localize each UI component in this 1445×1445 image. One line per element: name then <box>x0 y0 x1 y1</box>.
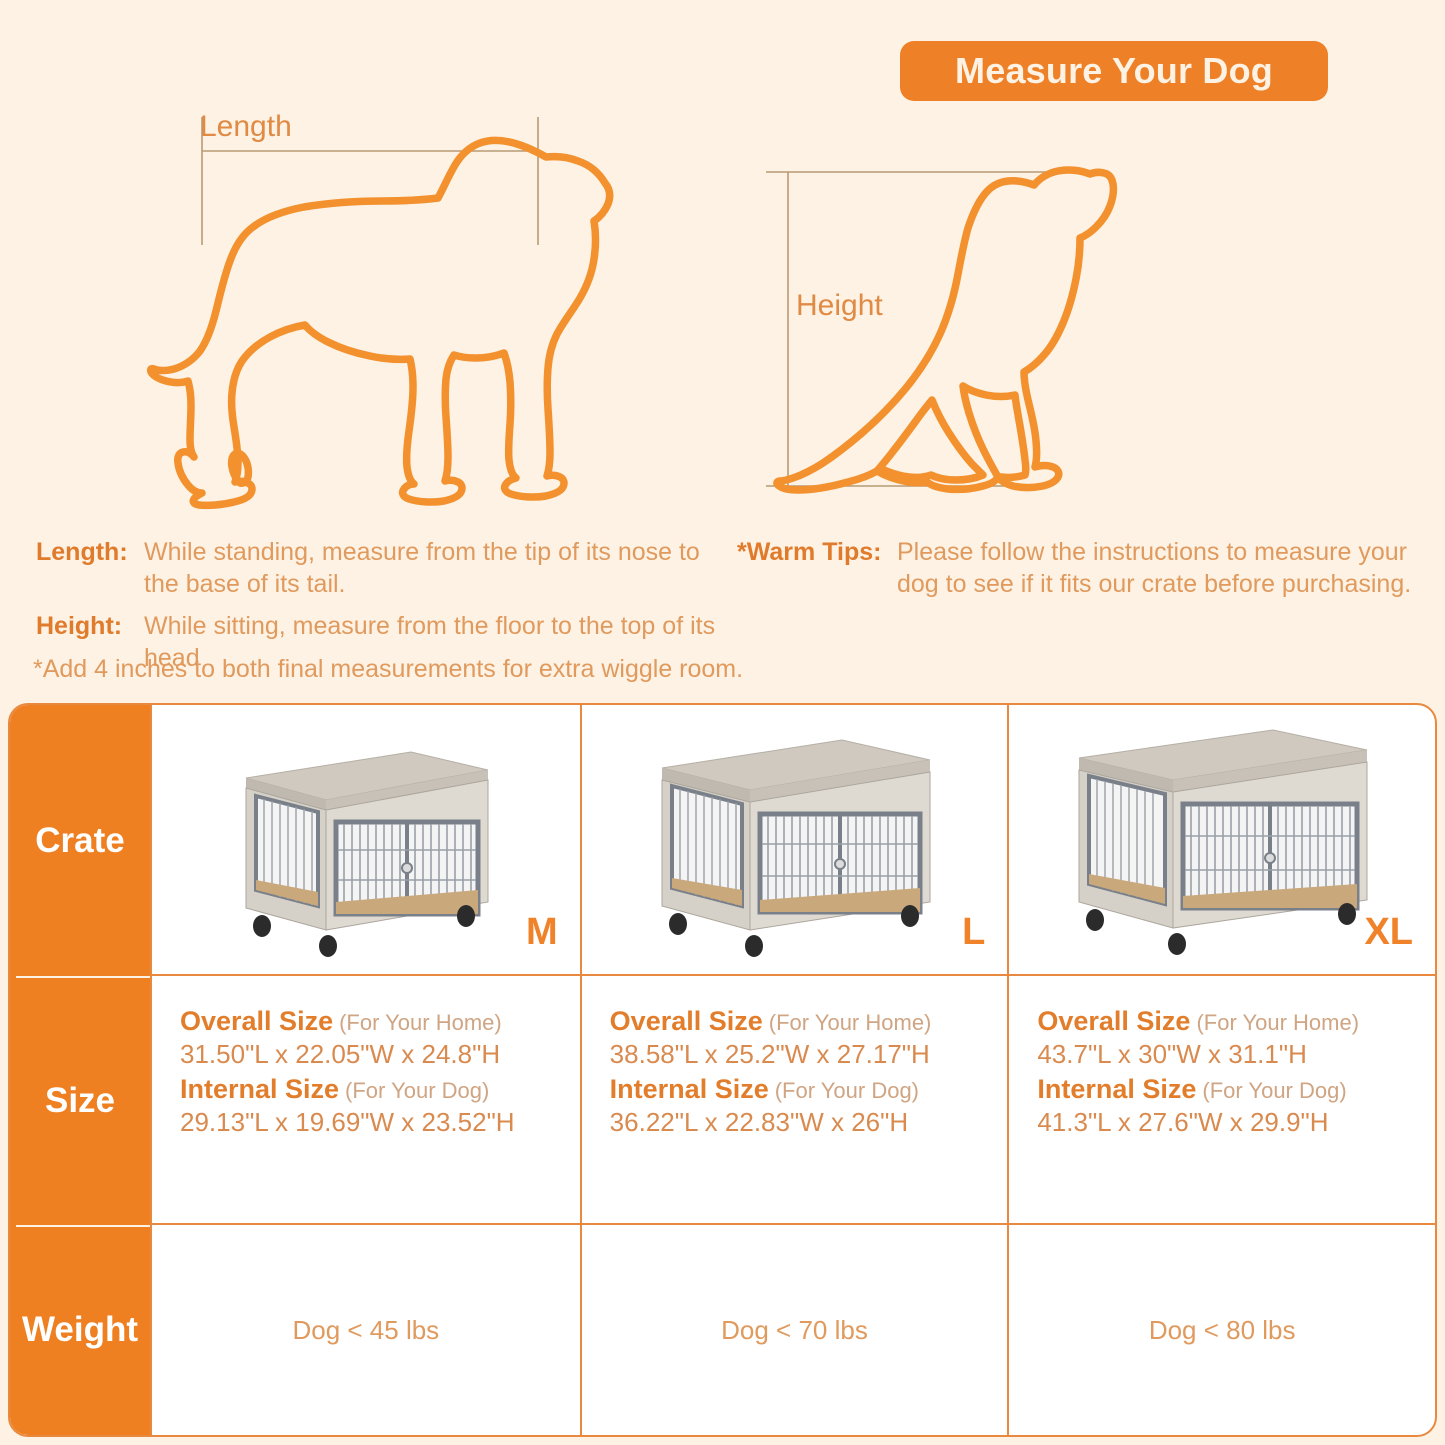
badge-title: Measure Your Dog <box>955 50 1273 92</box>
overall-size-dims: 31.50"L x 22.05"W x 24.8"H <box>180 1039 580 1070</box>
table-row-weight: Dog < 45 lbs Dog < 70 lbs Dog < 80 lbs <box>152 1223 1435 1435</box>
size-cell-xl: Overall Size(For Your Home) 43.7"L x 30"… <box>1007 976 1435 1223</box>
overall-size-dims: 38.58"L x 25.2"W x 27.17"H <box>610 1039 1008 1070</box>
size-spec-table: Crate Size Weight <box>8 703 1437 1437</box>
overall-size-group-xl: Overall Size(For Your Home) 43.7"L x 30"… <box>1037 1006 1435 1070</box>
size-badge-xl: XL <box>1364 911 1413 954</box>
internal-size-dims: 29.13"L x 19.69"W x 23.52"H <box>180 1107 580 1138</box>
overall-size-heading: Overall Size <box>1037 1006 1190 1036</box>
row-label-size: Size <box>10 976 150 1225</box>
internal-size-group-l: Internal Size(For Your Dog) 36.22"L x 22… <box>610 1074 1008 1138</box>
weight-value-l: Dog < 70 lbs <box>721 1315 868 1346</box>
crate-cell-m: M <box>152 705 580 974</box>
warm-tips-definition: Please follow the instructions to measur… <box>897 536 1427 600</box>
weight-value-xl: Dog < 80 lbs <box>1149 1315 1296 1346</box>
internal-size-group-xl: Internal Size(For Your Dog) 41.3"L x 27.… <box>1037 1074 1435 1138</box>
length-measure-label: Length <box>200 110 292 144</box>
internal-size-paren: (For Your Dog) <box>775 1078 919 1103</box>
dog-crate-icon <box>630 720 960 970</box>
crate-cell-l: L <box>580 705 1008 974</box>
internal-size-dims: 36.22"L x 22.83"W x 26"H <box>610 1107 1008 1138</box>
weight-cell-xl: Dog < 80 lbs <box>1007 1225 1435 1435</box>
overall-size-dims: 43.7"L x 30"W x 31.1"H <box>1037 1039 1435 1070</box>
table-row-crate: M <box>152 705 1435 974</box>
internal-size-group-m: Internal Size(For Your Dog) 29.13"L x 19… <box>180 1074 580 1138</box>
weight-cell-l: Dog < 70 lbs <box>580 1225 1008 1435</box>
wiggle-room-footnote: *Add 4 inches to both final measurements… <box>33 655 743 684</box>
internal-size-heading: Internal Size <box>610 1074 769 1104</box>
internal-size-heading: Internal Size <box>180 1074 339 1104</box>
standing-dog-silhouette-icon <box>150 105 620 505</box>
internal-size-heading: Internal Size <box>1037 1074 1196 1104</box>
measure-your-dog-badge: Measure Your Dog <box>900 41 1328 101</box>
weight-value-m: Dog < 45 lbs <box>292 1315 439 1346</box>
length-definition: While standing, measure from the tip of … <box>144 536 716 600</box>
length-instruction-row: Length: While standing, measure from the… <box>36 536 716 600</box>
weight-cell-m: Dog < 45 lbs <box>152 1225 580 1435</box>
sitting-dog-silhouette-icon <box>760 150 1220 510</box>
height-term: Height: <box>36 610 144 642</box>
overall-size-heading: Overall Size <box>610 1006 763 1036</box>
size-badge-l: L <box>962 911 985 954</box>
internal-size-paren: (For Your Dog) <box>1202 1078 1346 1103</box>
size-badge-m: M <box>526 911 558 954</box>
dog-crate-icon <box>216 730 516 970</box>
overall-size-heading: Overall Size <box>180 1006 333 1036</box>
sitting-dog-diagram <box>760 150 1220 510</box>
length-term: Length: <box>36 536 144 568</box>
row-label-weight: Weight <box>10 1225 150 1435</box>
table-data-columns: M <box>150 705 1435 1435</box>
internal-size-dims: 41.3"L x 27.6"W x 29.9"H <box>1037 1107 1435 1138</box>
height-measure-label: Height <box>796 289 883 323</box>
overall-size-group-l: Overall Size(For Your Home) 38.58"L x 25… <box>610 1006 1008 1070</box>
table-row-label-column: Crate Size Weight <box>10 705 150 1435</box>
dog-crate-icon <box>1045 712 1400 970</box>
internal-size-paren: (For Your Dog) <box>345 1078 489 1103</box>
overall-size-group-m: Overall Size(For Your Home) 31.50"L x 22… <box>180 1006 580 1070</box>
overall-size-paren: (For Your Home) <box>339 1010 502 1035</box>
size-cell-m: Overall Size(For Your Home) 31.50"L x 22… <box>152 976 580 1223</box>
table-row-size: Overall Size(For Your Home) 31.50"L x 22… <box>152 974 1435 1223</box>
warm-tips-row: *Warm Tips: Please follow the instructio… <box>737 536 1427 600</box>
standing-dog-diagram <box>150 105 620 505</box>
crate-cell-xl: XL <box>1007 705 1435 974</box>
warm-tips-term: *Warm Tips: <box>737 536 897 568</box>
warm-tips-block: *Warm Tips: Please follow the instructio… <box>737 536 1427 610</box>
overall-size-paren: (For Your Home) <box>769 1010 932 1035</box>
overall-size-paren: (For Your Home) <box>1196 1010 1359 1035</box>
row-label-crate: Crate <box>10 705 150 976</box>
size-cell-l: Overall Size(For Your Home) 38.58"L x 25… <box>580 976 1008 1223</box>
